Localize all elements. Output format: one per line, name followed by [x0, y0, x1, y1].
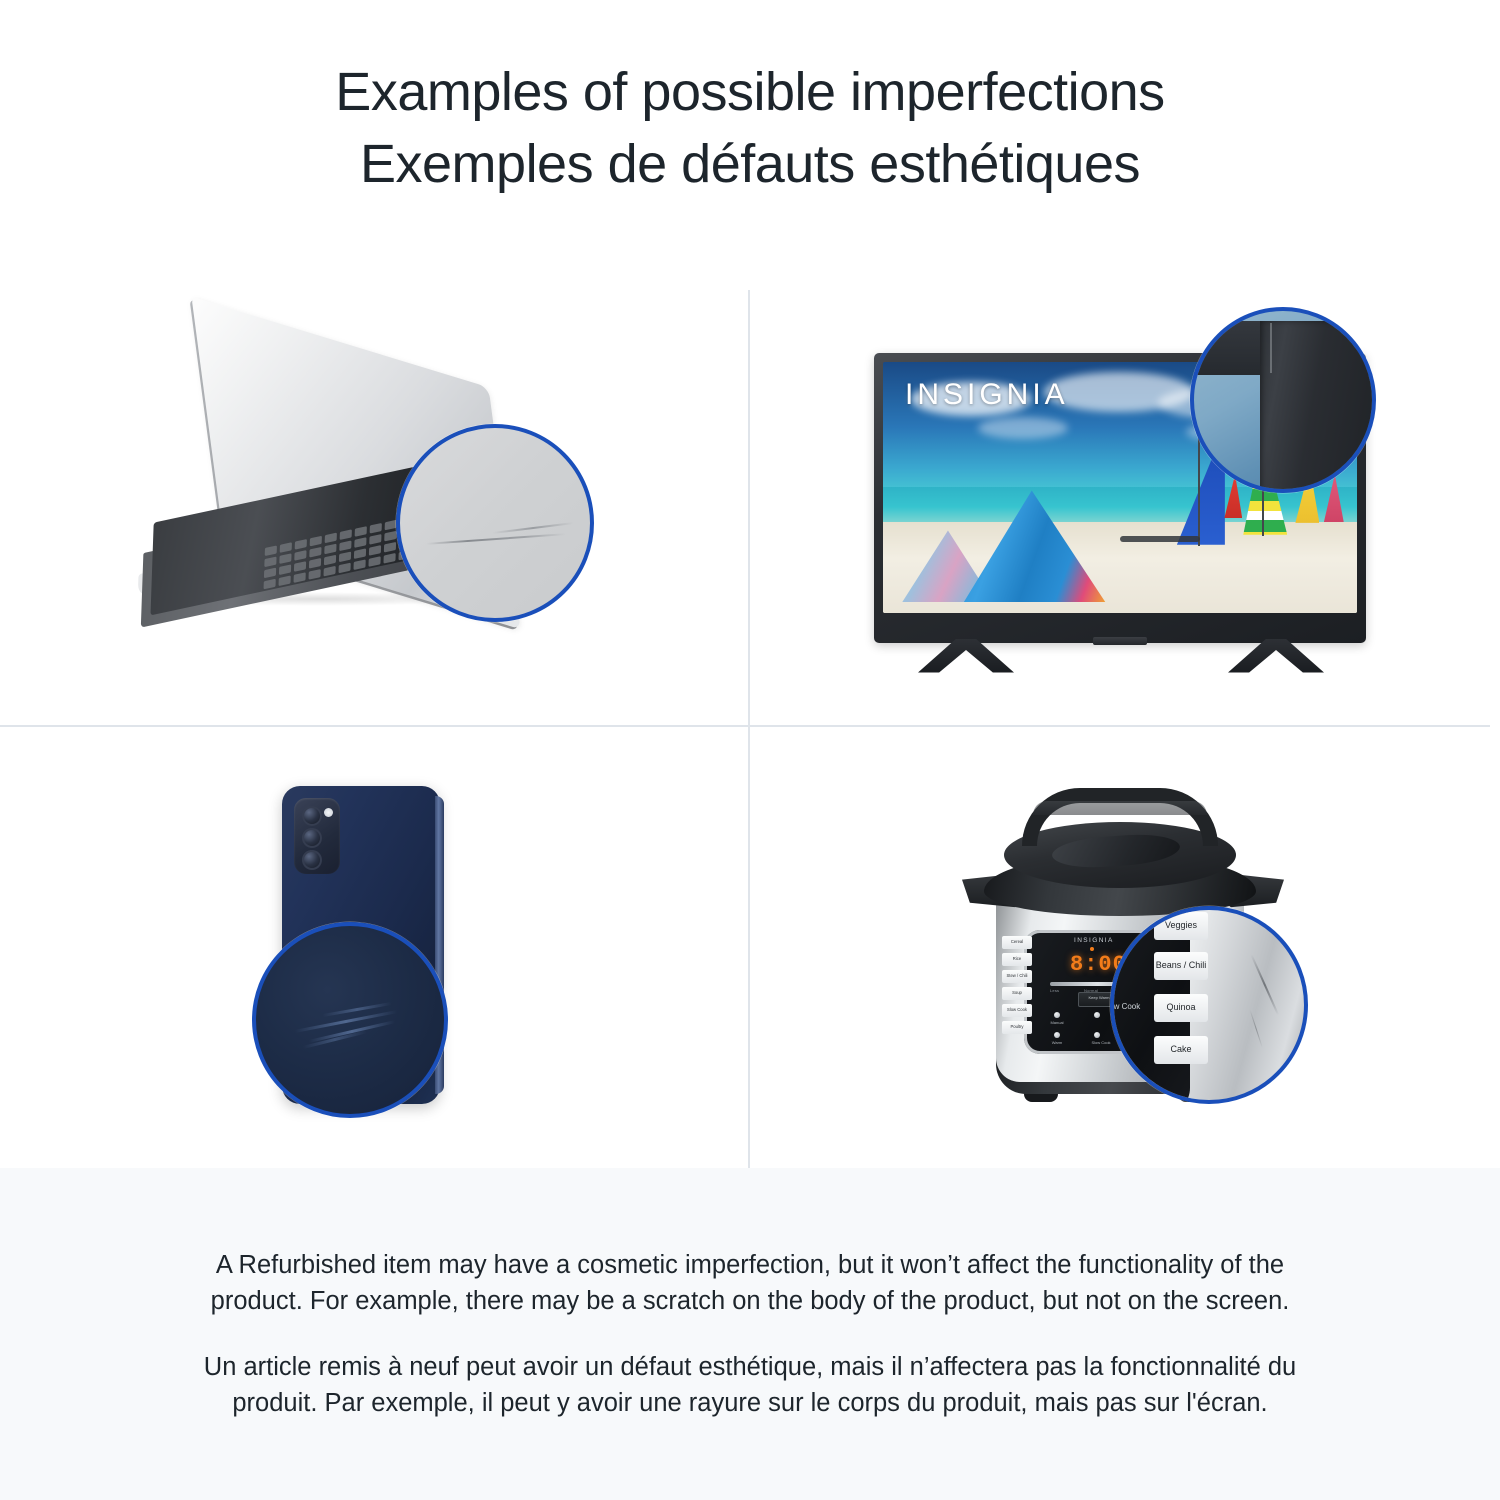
cooker-brand-wordmark: INSIGNIA: [1074, 937, 1114, 944]
camera-flash-icon: [324, 808, 333, 817]
page-title-english: Examples of possible imperfections: [335, 57, 1164, 129]
cooker-button-warm[interactable]: [1054, 1032, 1060, 1038]
cooker-status-indicator: [1090, 947, 1094, 951]
cooker-label-less: Less: [1050, 988, 1059, 993]
cooker-preset-rice[interactable]: Rice: [1002, 953, 1032, 966]
tv-scene-ocean: [883, 487, 1357, 527]
tv-defect-magnifier: [1190, 307, 1376, 493]
footer-paragraph-english: A Refurbished item may have a cosmetic i…: [170, 1247, 1330, 1319]
footer-paragraph-french: Un article remis à neuf peut avoir un dé…: [170, 1349, 1330, 1421]
cooker-preset-soup[interactable]: Soup: [1002, 987, 1032, 1000]
cooker-magnified-button-quinoa[interactable]: Quinoa: [1154, 994, 1208, 1022]
page-title-french: Exemples de défauts esthétiques: [360, 129, 1140, 201]
cooker-scratch-mark-secondary: [1249, 1009, 1262, 1047]
refurbished-imperfections-infographic: Examples of possible imperfections Exemp…: [0, 0, 1500, 1500]
cooker-inner-label-warm: Warm: [1042, 1040, 1072, 1045]
cooker-illustration: INSIGNIA 8:00 Less Normal More Keep Warm…: [960, 778, 1290, 1118]
cooker-button-slow-cook[interactable]: [1094, 1032, 1100, 1038]
tv-illustration: INSIGNIA: [860, 307, 1390, 677]
phone-defect-magnifier: [252, 922, 448, 1118]
cooker-button-keep-warm[interactable]: [1094, 1012, 1100, 1018]
tv-leg-right: [1228, 639, 1324, 673]
cooker-scratch-mark: [1251, 954, 1279, 1015]
cooker-magnified-button-veggies[interactable]: Veggies: [1154, 912, 1208, 940]
product-cell-pressure-cooker: INSIGNIA 8:00 Less Normal More Keep Warm…: [750, 727, 1500, 1168]
cooker-preset-poultry[interactable]: Poultry: [1002, 1021, 1032, 1034]
camera-lens-icon: [302, 850, 322, 870]
phone-camera-module: [294, 798, 340, 874]
laptop-defect-magnifier: [396, 424, 594, 622]
tv-brand-wordmark: INSIGNIA: [905, 378, 1069, 412]
laptop-scratch-mark-secondary: [492, 522, 574, 533]
tv-stand-neck: [1093, 637, 1147, 645]
cooker-preset-stew-chili[interactable]: Stew / Chili: [1002, 970, 1032, 983]
laptop-illustration: [114, 342, 634, 642]
tv-magnified-bezel-corner: [1260, 321, 1376, 493]
product-cell-television: INSIGNIA: [750, 258, 1500, 725]
cooker-preset-cereal[interactable]: Cereal: [1002, 936, 1032, 949]
tv-leg-left: [918, 639, 1014, 673]
product-example-grid: INSIGNIA: [0, 258, 1500, 1168]
camera-lens-icon: [302, 806, 322, 826]
product-cell-laptop: [0, 258, 748, 725]
cooker-left-button-column: Cereal Rice Stew / Chili Soup Slow Cook …: [1002, 936, 1032, 1034]
page-header: Examples of possible imperfections Exemp…: [0, 0, 1500, 258]
cooker-button-manual[interactable]: [1054, 1012, 1060, 1018]
cooker-magnified-button-beans-chili[interactable]: Beans / Chili: [1154, 952, 1208, 980]
phone-illustration: [224, 778, 524, 1118]
cooker-defect-magnifier: Delay Slow Cook Veggies Beans / Chili Qu…: [1110, 906, 1308, 1104]
cooker-inner-label-slow-cook: Slow Cook: [1086, 1040, 1116, 1045]
tv-scene-hull: [1120, 536, 1200, 542]
cooker-inner-label-manual: Manual: [1042, 1020, 1072, 1025]
tv-magnified-bezel-seam: [1270, 323, 1272, 373]
page-footer: A Refurbished item may have a cosmetic i…: [0, 1168, 1500, 1500]
cooker-preset-slow-cook[interactable]: Slow Cook: [1002, 1004, 1032, 1017]
phone-scratch-mark: [309, 1020, 395, 1043]
cooker-magnified-button-cake[interactable]: Cake: [1154, 1036, 1208, 1064]
cooker-lid-handle: [1022, 788, 1218, 846]
phone-scratch-mark: [295, 1010, 398, 1033]
cooker-magnified-label-slow-cook: Slow Cook: [1110, 1002, 1140, 1011]
product-cell-smartphone: [0, 727, 748, 1168]
camera-lens-icon: [302, 828, 322, 848]
laptop-scratch-mark: [426, 533, 566, 545]
